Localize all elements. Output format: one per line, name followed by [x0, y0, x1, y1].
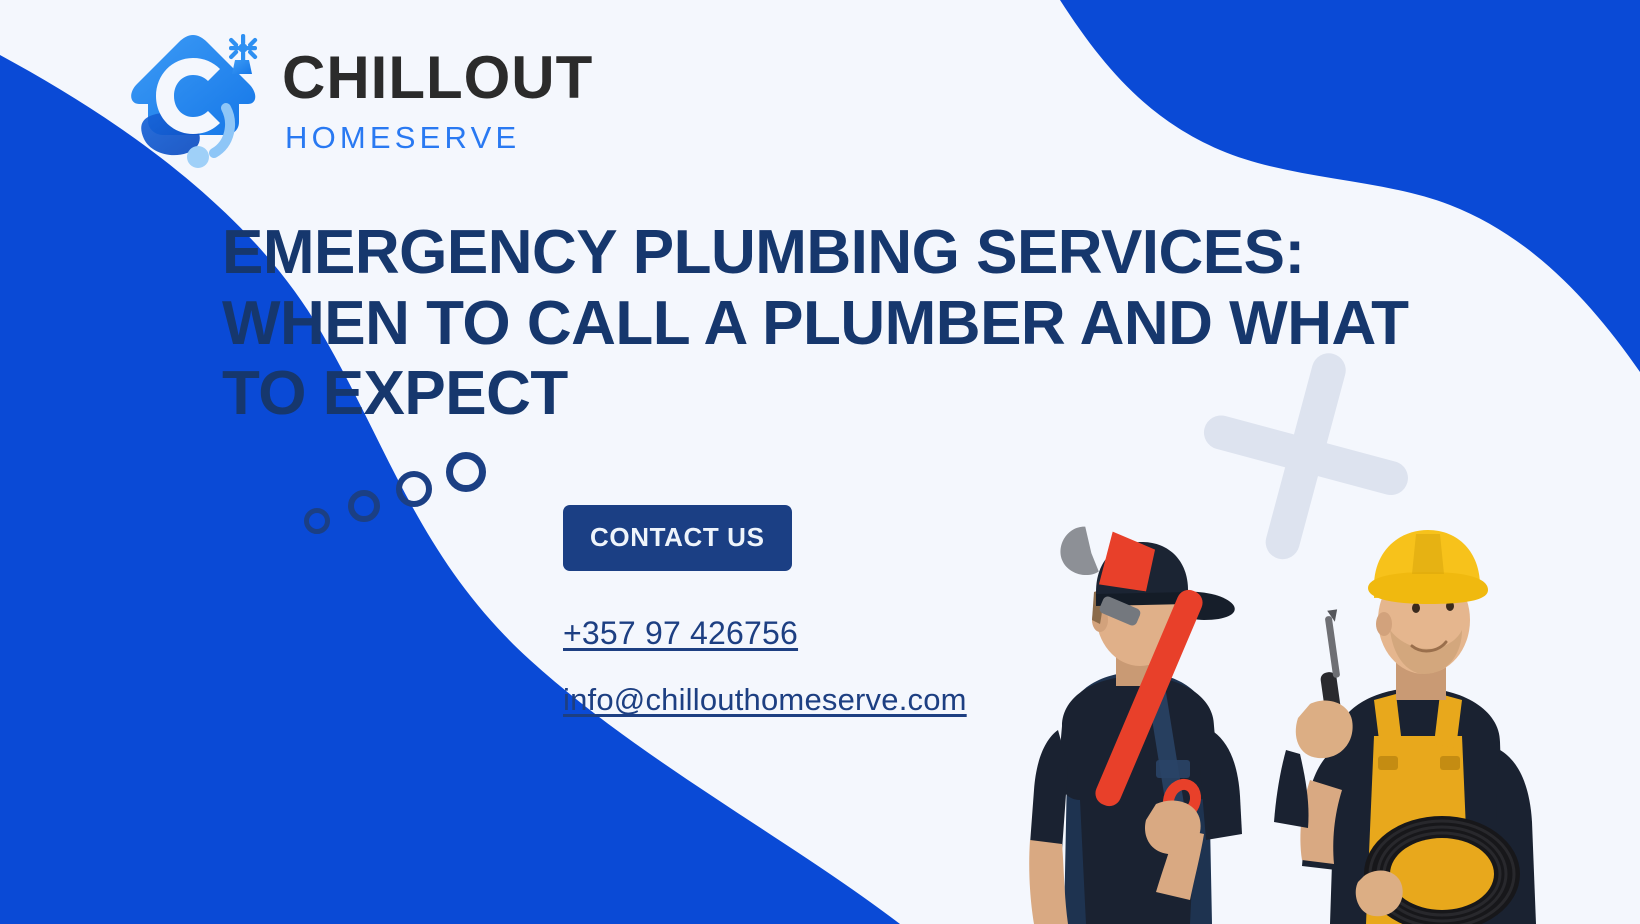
brand-tagline: HOMESERVE — [285, 122, 593, 153]
plumbers-illustration — [950, 504, 1640, 924]
contact-block: CONTACT US +357 97 426756 info@chillouth… — [563, 505, 993, 718]
brand-name: CHILLOUT — [282, 48, 593, 108]
email-link[interactable]: info@chillouthomeserve.com — [563, 682, 993, 718]
logo-wordmark: CHILLOUT HOMESERVE — [282, 42, 593, 153]
ring-1 — [304, 508, 330, 534]
ring-2 — [348, 490, 380, 522]
contact-us-button[interactable]: CONTACT US — [563, 505, 792, 571]
ring-3 — [396, 471, 432, 507]
brand-logo[interactable]: CHILLOUT HOMESERVE — [118, 22, 593, 172]
worker-with-screwdriver — [1274, 530, 1536, 924]
ring-4 — [446, 452, 486, 492]
phone-link[interactable]: +357 97 426756 — [563, 615, 993, 652]
plumber-with-pipe-wrench — [1029, 521, 1242, 924]
house-c-logo-icon — [118, 22, 268, 172]
two-plumbers-photo — [950, 504, 1640, 924]
marketing-banner: CHILLOUT HOMESERVE EMERGENCY PLUMBING SE… — [0, 0, 1640, 924]
circle-rings-icon — [296, 452, 506, 542]
